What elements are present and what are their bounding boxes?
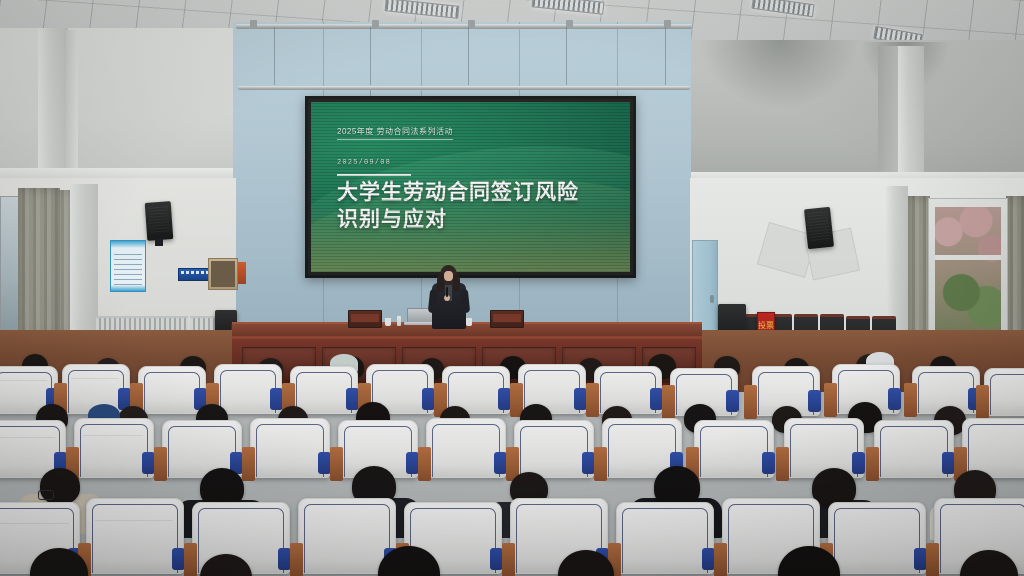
speaker-grill bbox=[148, 204, 170, 232]
water-bottle-stage[interactable] bbox=[397, 316, 401, 326]
window-curtain-right bbox=[908, 196, 930, 346]
window-curtain-left bbox=[18, 188, 60, 340]
track-clip bbox=[372, 20, 379, 29]
lectern-left bbox=[348, 310, 382, 328]
audience-chair[interactable] bbox=[828, 502, 926, 574]
electrical-panel-box[interactable] bbox=[208, 258, 238, 290]
audience-chair[interactable] bbox=[962, 418, 1024, 478]
lectern-right bbox=[490, 310, 524, 328]
presenter-arm-right bbox=[460, 289, 470, 314]
hanging-wire bbox=[665, 27, 666, 85]
slide-title: 大学生劳动合同签订风险 识别与应对 bbox=[337, 180, 617, 234]
track-clip bbox=[468, 20, 475, 29]
structural-pillar-right bbox=[898, 46, 924, 180]
chair-frame bbox=[330, 447, 343, 481]
chair-accent bbox=[726, 390, 739, 412]
curtain-track-upper bbox=[236, 24, 692, 29]
chair-frame bbox=[866, 447, 879, 481]
outdoor-foliage bbox=[935, 207, 1001, 345]
window-curtain-right-2 bbox=[1006, 196, 1024, 346]
chair-frame bbox=[824, 383, 837, 417]
chair-accent bbox=[808, 390, 821, 412]
lecture-hall-photo: 2025年度 劳动合同法系列活动 2025/09/08 大学生劳动合同签订风险 … bbox=[0, 0, 1024, 576]
chair-accent bbox=[762, 452, 775, 474]
wall-speaker-left bbox=[145, 201, 174, 241]
structural-pillar-left-2 bbox=[66, 30, 78, 180]
slide-title-line-2: 识别与应对 bbox=[337, 207, 617, 234]
chair-frame bbox=[184, 543, 197, 576]
hanging-wire bbox=[370, 27, 371, 85]
chair-frame bbox=[662, 385, 675, 419]
wall-speaker-right bbox=[804, 207, 834, 249]
slide-date-text: 2025/09/08 bbox=[337, 159, 391, 167]
chair-frame bbox=[714, 543, 727, 576]
presenter-hair-left bbox=[437, 274, 444, 292]
door-handle[interactable] bbox=[710, 295, 714, 303]
track-clip bbox=[566, 20, 573, 29]
lectern-nameplate bbox=[351, 314, 379, 322]
chair-fold bbox=[95, 520, 173, 521]
audience-chair[interactable] bbox=[514, 420, 594, 478]
chair-frame bbox=[502, 543, 515, 576]
chair-frame bbox=[154, 447, 167, 481]
audience-chair[interactable] bbox=[594, 366, 662, 414]
screen-surface: 2025年度 劳动合同法系列活动 2025/09/08 大学生劳动合同签订风险 … bbox=[311, 102, 630, 272]
hanging-wire bbox=[566, 27, 567, 85]
chair-frame bbox=[242, 447, 255, 481]
slide-divider-rule bbox=[337, 174, 411, 176]
audience-chair[interactable] bbox=[426, 418, 506, 478]
presenter-hair-right bbox=[453, 274, 460, 292]
hanging-wire bbox=[468, 27, 469, 85]
audience-chair[interactable] bbox=[214, 364, 282, 414]
slide-title-line-1: 大学生劳动合同签订风险 bbox=[337, 180, 617, 207]
wall-stain bbox=[700, 40, 860, 110]
chair-fold bbox=[0, 523, 69, 524]
chair-accent bbox=[888, 388, 901, 410]
chair-frame bbox=[418, 447, 431, 481]
audience-chair[interactable] bbox=[86, 498, 184, 574]
chair-frame bbox=[586, 383, 599, 417]
chair-fold bbox=[0, 437, 55, 438]
extinguisher-marker bbox=[238, 262, 246, 284]
chair-frame bbox=[290, 543, 303, 576]
hanging-wire bbox=[274, 27, 275, 85]
panel-box-face bbox=[211, 261, 235, 287]
wall-pillar-left-lower bbox=[70, 184, 98, 340]
exit-doorway[interactable] bbox=[928, 198, 1008, 352]
structural-pillar-right-2 bbox=[878, 46, 898, 180]
chair-frame bbox=[926, 543, 939, 576]
chair-fold bbox=[71, 378, 119, 379]
student-audience bbox=[0, 352, 1024, 576]
audience-chair[interactable] bbox=[874, 420, 954, 478]
chair-accent bbox=[852, 452, 865, 474]
speaker-grill bbox=[807, 210, 830, 241]
speaker-bracket-left bbox=[155, 238, 163, 246]
audience-chair[interactable] bbox=[616, 502, 714, 574]
chair-fold bbox=[83, 435, 143, 436]
chair-frame bbox=[976, 385, 989, 419]
poster-text-lines bbox=[114, 253, 142, 285]
chair-fold bbox=[0, 380, 47, 381]
chair-frame bbox=[776, 447, 789, 481]
microphone[interactable] bbox=[446, 287, 448, 297]
audience-chair[interactable] bbox=[250, 418, 330, 478]
paper-cup-stage[interactable] bbox=[385, 318, 391, 326]
presenter bbox=[425, 265, 473, 327]
chair-frame bbox=[594, 447, 607, 481]
track-clip bbox=[250, 20, 257, 29]
eyeglasses bbox=[38, 490, 54, 500]
audience-chair[interactable] bbox=[694, 420, 774, 478]
slide-kicker-text: 2025年度 劳动合同法系列活动 bbox=[337, 126, 453, 140]
chair-frame bbox=[904, 383, 917, 417]
projection-screen: 2025年度 劳动合同法系列活动 2025/09/08 大学生劳动合同签订风险 … bbox=[305, 96, 636, 278]
lectern-nameplate bbox=[493, 314, 521, 322]
notice-poster-left bbox=[110, 240, 146, 292]
audience-chair[interactable] bbox=[74, 418, 154, 478]
structural-pillar-left bbox=[38, 28, 68, 180]
audience-chair[interactable] bbox=[138, 366, 206, 414]
curtain-track-lower bbox=[238, 86, 690, 90]
chair-frame bbox=[744, 385, 757, 419]
doorway-mullion bbox=[935, 255, 1001, 260]
sign-text bbox=[181, 271, 211, 274]
audience-chair[interactable] bbox=[984, 368, 1024, 416]
